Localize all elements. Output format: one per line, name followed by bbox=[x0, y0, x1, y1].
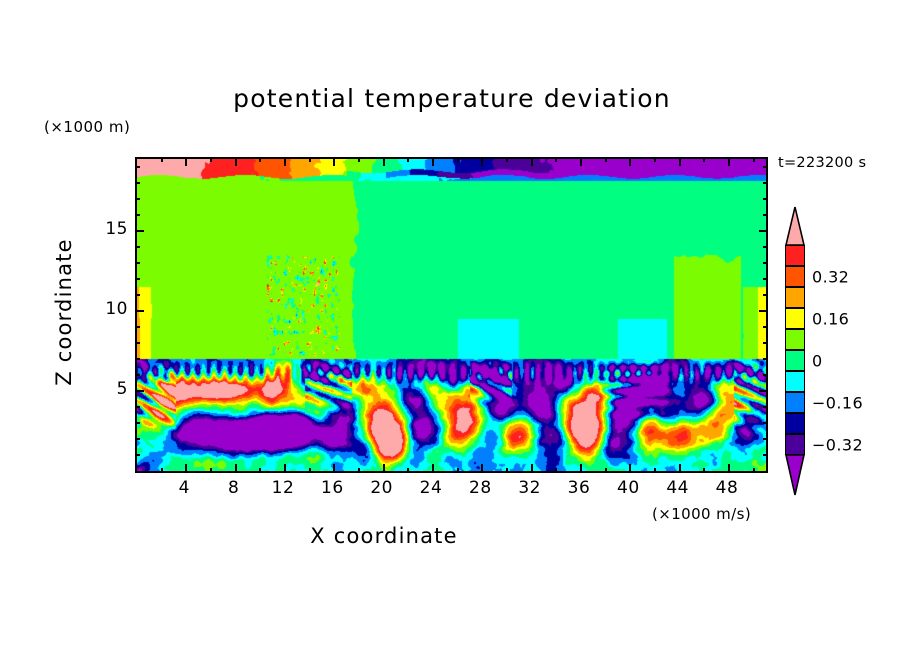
x-axis-tick bbox=[309, 157, 311, 162]
y-axis-tick bbox=[763, 294, 768, 296]
colorbar-band bbox=[785, 308, 805, 329]
x-tick-label: 36 bbox=[568, 478, 591, 498]
y-axis-tick bbox=[135, 294, 140, 296]
x-axis-tick bbox=[333, 464, 335, 473]
colorbar-tick-label: 0.16 bbox=[812, 309, 849, 328]
y-axis-tick bbox=[135, 262, 140, 264]
x-axis-tick bbox=[481, 464, 483, 473]
x-tick-label: 20 bbox=[370, 478, 393, 498]
colorbar-band bbox=[785, 413, 805, 434]
x-axis-tick bbox=[531, 464, 533, 473]
x-tick-label: 48 bbox=[716, 478, 739, 498]
y-axis-tick bbox=[759, 390, 768, 392]
y-axis-tick bbox=[135, 310, 144, 312]
y-axis-tick bbox=[763, 278, 768, 280]
y-axis-tick bbox=[763, 438, 768, 440]
colorbar-band bbox=[785, 371, 805, 392]
x-axis-tick bbox=[259, 468, 261, 473]
colorbar-band bbox=[785, 392, 805, 413]
y-axis-tick bbox=[763, 406, 768, 408]
y-axis-tick bbox=[763, 166, 768, 168]
x-axis-tick bbox=[235, 464, 237, 473]
y-axis-tick bbox=[135, 390, 144, 392]
x-axis-tick bbox=[753, 468, 755, 473]
x-axis-tick bbox=[679, 464, 681, 473]
x-axis-tick bbox=[679, 157, 681, 166]
y-tick-label: 15 bbox=[105, 219, 128, 239]
x-axis-tick bbox=[654, 468, 656, 473]
x-axis-tick bbox=[506, 468, 508, 473]
y-axis-tick bbox=[759, 310, 768, 312]
y-axis-tick bbox=[135, 246, 140, 248]
y-axis-tick bbox=[135, 230, 144, 232]
x-axis-tick bbox=[358, 157, 360, 162]
page-title: potential temperature deviation bbox=[0, 84, 904, 113]
y-axis-tick bbox=[135, 406, 140, 408]
x-axis-tick bbox=[309, 468, 311, 473]
y-axis-unit-label: (×1000 m) bbox=[44, 118, 130, 136]
x-axis-tick bbox=[432, 157, 434, 166]
y-axis-tick bbox=[135, 454, 140, 456]
x-axis-tick bbox=[605, 157, 607, 162]
colorbar-tick-label: 0.32 bbox=[812, 267, 849, 286]
x-axis-tick bbox=[210, 468, 212, 473]
y-axis-tick bbox=[135, 326, 140, 328]
x-tick-label: 32 bbox=[518, 478, 541, 498]
colorbar-tick-label: 0 bbox=[812, 351, 823, 370]
x-axis-title: X coordinate bbox=[0, 524, 768, 548]
y-axis-tick bbox=[763, 246, 768, 248]
x-axis-tick bbox=[580, 157, 582, 166]
y-axis-title: Z coordinate bbox=[52, 212, 76, 412]
x-axis-tick bbox=[654, 157, 656, 162]
x-axis-unit-label: (×1000 m/s) bbox=[652, 505, 751, 523]
x-axis-tick bbox=[235, 157, 237, 166]
x-axis-tick bbox=[703, 468, 705, 473]
x-tick-label: 4 bbox=[179, 478, 190, 498]
colorbar-band bbox=[785, 434, 805, 455]
y-axis-tick bbox=[763, 454, 768, 456]
colorbar-bottom-arrow bbox=[785, 454, 805, 496]
y-axis-tick bbox=[763, 342, 768, 344]
colorbar-band bbox=[785, 266, 805, 287]
x-axis-tick bbox=[481, 157, 483, 166]
x-axis-tick bbox=[753, 157, 755, 162]
contour-field bbox=[137, 159, 766, 471]
y-axis-tick bbox=[763, 214, 768, 216]
x-axis-tick bbox=[506, 157, 508, 162]
y-axis-tick bbox=[763, 198, 768, 200]
x-axis-tick bbox=[358, 468, 360, 473]
colorbar[interactable] bbox=[785, 245, 805, 455]
x-axis-tick bbox=[333, 157, 335, 166]
y-axis-tick bbox=[763, 374, 768, 376]
x-axis-tick bbox=[432, 464, 434, 473]
y-axis-tick bbox=[135, 422, 140, 424]
time-annotation: t=223200 s bbox=[778, 155, 866, 171]
x-axis-tick bbox=[161, 468, 163, 473]
y-axis-tick bbox=[135, 214, 140, 216]
y-axis-tick bbox=[135, 438, 140, 440]
contour-plot-area[interactable] bbox=[135, 157, 768, 473]
y-axis-tick bbox=[763, 262, 768, 264]
x-axis-tick bbox=[383, 157, 385, 166]
colorbar-band bbox=[785, 329, 805, 350]
y-tick-label: 10 bbox=[105, 299, 128, 319]
y-axis-tick bbox=[135, 278, 140, 280]
x-axis-tick bbox=[457, 468, 459, 473]
x-tick-label: 16 bbox=[321, 478, 344, 498]
x-axis-tick bbox=[210, 157, 212, 162]
x-tick-label: 28 bbox=[469, 478, 492, 498]
colorbar-band bbox=[785, 287, 805, 308]
x-axis-tick bbox=[407, 468, 409, 473]
x-axis-tick bbox=[531, 157, 533, 166]
y-axis-tick bbox=[135, 166, 140, 168]
colorbar-tick-label: −0.32 bbox=[812, 435, 863, 454]
y-axis-tick bbox=[135, 358, 140, 360]
x-tick-label: 40 bbox=[617, 478, 640, 498]
y-tick-label: 5 bbox=[117, 379, 128, 399]
colorbar-band bbox=[785, 350, 805, 371]
y-axis-tick bbox=[763, 422, 768, 424]
x-axis-tick bbox=[284, 157, 286, 166]
x-axis-tick bbox=[555, 468, 557, 473]
x-axis-tick bbox=[383, 464, 385, 473]
x-tick-label: 8 bbox=[228, 478, 239, 498]
x-axis-tick bbox=[728, 464, 730, 473]
x-axis-tick bbox=[629, 464, 631, 473]
x-axis-tick bbox=[161, 157, 163, 162]
x-axis-tick bbox=[629, 157, 631, 166]
x-axis-tick bbox=[580, 464, 582, 473]
y-axis-tick bbox=[763, 326, 768, 328]
y-axis-tick bbox=[135, 374, 140, 376]
colorbar-tick-label: −0.16 bbox=[812, 393, 863, 412]
x-axis-tick bbox=[284, 464, 286, 473]
y-axis-tick bbox=[135, 198, 140, 200]
colorbar-band bbox=[785, 245, 805, 266]
x-axis-tick bbox=[703, 157, 705, 162]
y-axis-tick bbox=[135, 342, 140, 344]
x-axis-tick bbox=[407, 157, 409, 162]
y-axis-tick bbox=[135, 182, 140, 184]
y-axis-tick bbox=[763, 182, 768, 184]
y-axis-tick bbox=[763, 358, 768, 360]
x-axis-tick bbox=[457, 157, 459, 162]
x-axis-tick bbox=[605, 468, 607, 473]
x-tick-label: 12 bbox=[272, 478, 295, 498]
x-axis-tick bbox=[259, 157, 261, 162]
x-axis-tick bbox=[185, 464, 187, 473]
colorbar-top-arrow bbox=[785, 206, 805, 246]
x-axis-tick bbox=[728, 157, 730, 166]
x-axis-tick bbox=[185, 157, 187, 166]
y-axis-tick bbox=[759, 230, 768, 232]
x-axis-tick bbox=[555, 157, 557, 162]
x-tick-label: 44 bbox=[666, 478, 689, 498]
x-tick-label: 24 bbox=[420, 478, 443, 498]
